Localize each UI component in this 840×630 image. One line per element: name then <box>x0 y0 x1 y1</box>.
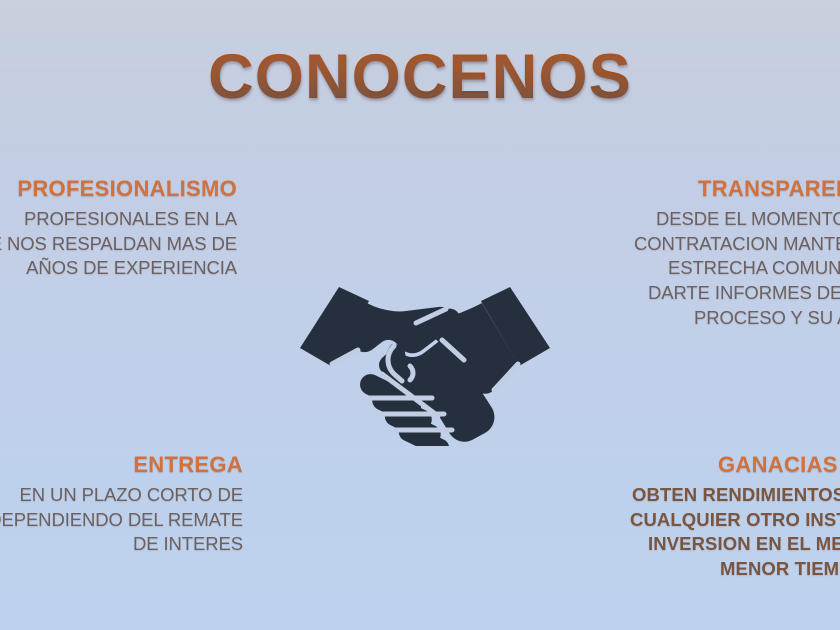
body-line: INVERSION EN EL MERCADO EN <box>648 532 840 557</box>
body-line: DEPENDIENDO DEL REMATE <box>0 508 243 533</box>
body-line: DESDE EL MOMENTO DE LA <box>656 207 840 232</box>
body-line: ESTRECHA COMUNICACION <box>668 256 840 281</box>
quadrant-entrega: ENTREGA EN UN PLAZO CORTO DE DEPENDIENDO… <box>0 452 243 557</box>
quadrant-ganacias-heading: GANACIAS <box>718 452 840 477</box>
body-line: AÑOS DE EXPERIENCIA <box>0 256 237 281</box>
body-line: MENOR TIEMPO <box>720 557 840 582</box>
body-line: CONTRATACION MANTENEMOS <box>634 232 840 257</box>
body-line: PROCESO Y SU AVANCE <box>694 306 840 331</box>
page-title: CONOCENOS <box>0 46 840 109</box>
body-line: QUE NOS RESPALDAN MAS DE <box>0 232 237 257</box>
quadrant-transparencia-body: DESDE EL MOMENTO DE LA CONTRATACION MANT… <box>634 207 840 330</box>
quadrant-profesionalismo-body: PROFESIONALES EN LA QUE NOS RESPALDAN MA… <box>0 207 237 281</box>
quadrant-profesionalismo: PROFESIONALISMO PROFESIONALES EN LA QUE … <box>0 176 237 281</box>
quadrant-entrega-body: EN UN PLAZO CORTO DE DEPENDIENDO DEL REM… <box>0 483 243 557</box>
handshake-icon <box>296 280 554 446</box>
quadrant-ganacias: GANACIAS OBTEN RENDIMIENTOS MAYORES CUAL… <box>620 452 840 582</box>
body-line: CUALQUIER OTRO INSTRUMENTO <box>630 508 840 533</box>
body-line: OBTEN RENDIMIENTOS MAYORES <box>632 483 840 508</box>
body-line: DARTE INFORMES DETALLADOS <box>648 281 840 306</box>
body-line: DE INTERES <box>0 532 243 557</box>
slide-canvas: CONOCENOS PROFESIONALISMO PROFESIONALES … <box>0 0 840 630</box>
quadrant-ganacias-body: OBTEN RENDIMIENTOS MAYORES CUALQUIER OTR… <box>620 483 840 581</box>
quadrant-transparencia: TRANSPARENCIA DESDE EL MOMENTO DE LA CON… <box>634 176 840 330</box>
quadrant-transparencia-heading: TRANSPARENCIA <box>698 176 840 201</box>
quadrant-entrega-heading: ENTREGA <box>0 452 243 477</box>
body-line: PROFESIONALES EN LA <box>0 207 237 232</box>
body-line: EN UN PLAZO CORTO DE <box>0 483 243 508</box>
quadrant-profesionalismo-heading: PROFESIONALISMO <box>0 176 237 201</box>
